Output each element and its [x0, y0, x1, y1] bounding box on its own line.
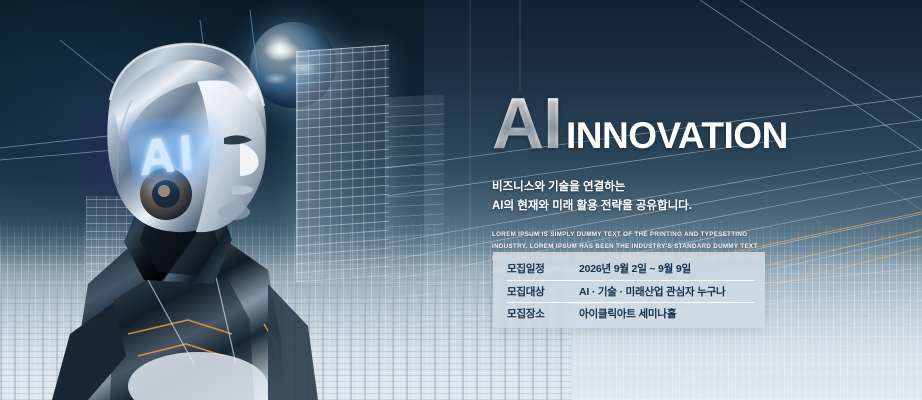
page-title: AIINNOVATION [492, 88, 892, 160]
table-row: 모집대상 AI · 기술 · 미래산업 관심자 누구나 [507, 281, 755, 304]
title-secondary: INNOVATION [566, 117, 788, 154]
info-value-target: AI · 기술 · 미래산업 관심자 누구나 [579, 284, 726, 299]
subtitle-line-2: AI의 현재와 미래 활용 전략을 공유합니다. [492, 197, 892, 216]
ai-robot-figure: AI [18, 34, 338, 400]
subtitle: 비즈니스와 기술을 연결하는 AI의 현재와 미래 활용 전략을 공유합니다. [492, 178, 892, 215]
info-value-schedule: 2026년 9월 2일 ~ 9월 9일 [579, 261, 691, 276]
info-table: 모집일정 2026년 9월 2일 ~ 9월 9일 모집대상 AI · 기술 · … [507, 258, 755, 325]
ai-innovation-banner: AI AIINNOVATION 비즈니스와 기술을 연결하는 AI의 현재와 미… [0, 0, 922, 400]
title-primary: AI [492, 88, 562, 160]
info-label-venue: 모집장소 [507, 306, 579, 321]
info-label-target: 모집대상 [507, 284, 579, 299]
info-panel: 모집일정 2026년 9월 2일 ~ 9월 9일 모집대상 AI · 기술 · … [493, 252, 765, 328]
table-row: 모집장소 아이클릭아트 세미나홀 [507, 303, 755, 325]
info-label-schedule: 모집일정 [507, 261, 579, 276]
info-value-venue: 아이클릭아트 세미나홀 [579, 306, 676, 321]
subtitle-line-1: 비즈니스와 기술을 연결하는 [492, 178, 892, 197]
table-row: 모집일정 2026년 9월 2일 ~ 9월 9일 [507, 258, 755, 281]
